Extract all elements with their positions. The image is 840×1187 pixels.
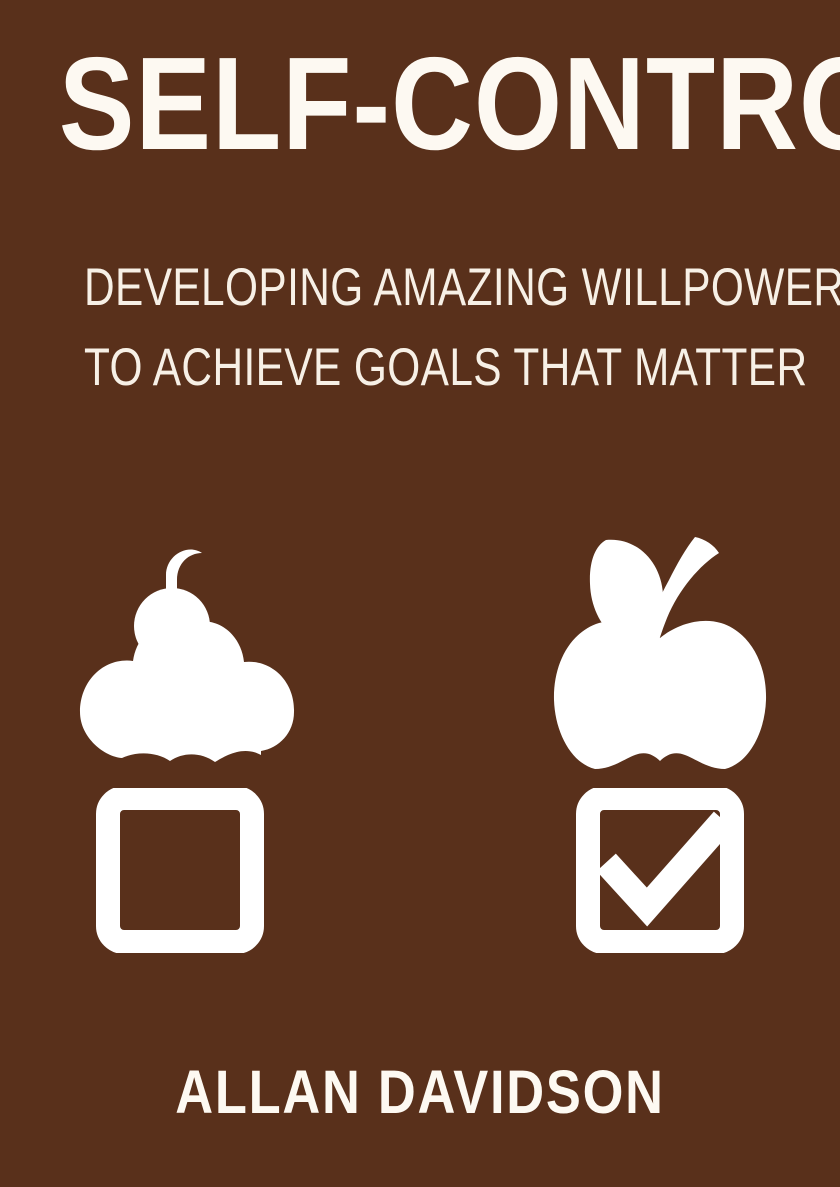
cover-subtitle-line-2: TO ACHIEVE GOALS THAT MATTER [84, 328, 756, 408]
checked-box-wrap [510, 788, 810, 958]
checkbox-checked-icon[interactable] [575, 788, 745, 953]
choice-option-cupcake [30, 520, 330, 960]
book-cover: SELF-CONTROL DEVELOPING AMAZING WILLPOWE… [0, 0, 840, 1187]
cover-subtitle: DEVELOPING AMAZING WILLPOWER TO ACHIEVE … [84, 248, 756, 407]
checkbox-unchecked-icon[interactable] [95, 788, 265, 953]
apple-icon-wrap [510, 520, 810, 770]
cover-subtitle-line-1: DEVELOPING AMAZING WILLPOWER [84, 248, 756, 328]
choice-option-apple [510, 520, 810, 960]
cupcake-icon [65, 520, 295, 770]
unchecked-box-wrap [30, 788, 330, 958]
cover-author: ALLAN DAVIDSON [59, 1062, 781, 1123]
cover-title: SELF-CONTROL [59, 38, 781, 170]
apple-icon [545, 520, 775, 770]
cupcake-icon-wrap [30, 520, 330, 770]
